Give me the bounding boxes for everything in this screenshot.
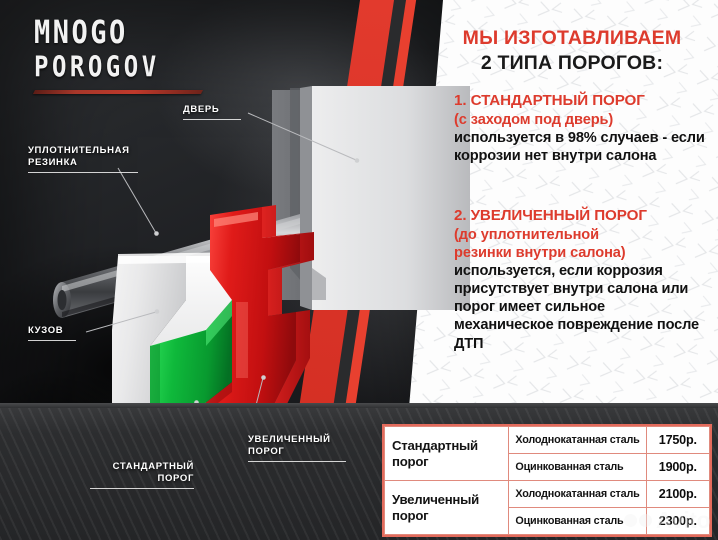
block2-body: используется, если коррозия присутствует… <box>454 262 706 353</box>
brand-logo: MNOGO POROGOV <box>34 17 214 94</box>
table-row: Стандартный порог Холоднокатанная сталь … <box>385 427 710 454</box>
header-line-1: МЫ ИЗГОТАВЛИВАЕМ <box>438 28 706 50</box>
price-row-value-3: 2300р. <box>646 508 709 535</box>
label-door-rule <box>183 119 241 120</box>
price-row-material-2: Холоднокатанная сталь <box>509 481 646 508</box>
price-row-material-1: Оцинкованная сталь <box>509 454 646 481</box>
label-seal-rule <box>28 172 138 173</box>
info-block-standard: 1. СТАНДАРТНЫЙ ПОРОГ (с заходом под двер… <box>454 92 706 165</box>
label-door: ДВЕРЬ <box>183 104 253 120</box>
label-standard-text-2: ПОРОГ <box>158 473 194 484</box>
block2-title: 2. УВЕЛИЧЕННЫЙ ПОРОГ <box>454 207 706 226</box>
block2-subtitle-line-2: резинки внутри салона) <box>454 244 706 262</box>
label-seal-text-2: РЕЗИНКА <box>28 157 78 168</box>
label-standard-rule <box>90 488 194 489</box>
label-extended-rule <box>248 461 346 462</box>
label-door-text: ДВЕРЬ <box>183 104 219 115</box>
label-rubber-seal: УПЛОТНИТЕЛЬНАЯ РЕЗИНКА <box>28 145 148 173</box>
bottom-band-top-edge <box>0 403 718 408</box>
block1-title: 1. СТАНДАРТНЫЙ ПОРОГ <box>454 92 706 111</box>
logo-line-1: MNOGO <box>34 17 214 49</box>
label-body-rule <box>28 340 76 341</box>
label-car-body: КУЗОВ <box>28 325 88 341</box>
price-table: Стандартный порог Холоднокатанная сталь … <box>384 426 710 535</box>
label-standard-sill: СТАНДАРТНЫЙ ПОРОГ <box>90 461 194 489</box>
label-extended-text-2: ПОРОГ <box>248 446 284 457</box>
label-extended-text-1: УВЕЛИЧЕННЫЙ <box>248 434 331 445</box>
price-row-material-0: Холоднокатанная сталь <box>509 427 646 454</box>
logo-line-2: POROGOV <box>34 53 214 81</box>
label-body-text: КУЗОВ <box>28 325 63 336</box>
logo-underline-bar <box>33 90 203 94</box>
price-row-name-standard: Стандартный порог <box>385 427 509 481</box>
price-table-container: Стандартный порог Холоднокатанная сталь … <box>382 424 712 537</box>
label-standard-text-1: СТАНДАРТНЫЙ <box>113 461 194 472</box>
panel-header: МЫ ИЗГОТАВЛИВАЕМ 2 ТИПА ПОРОГОВ: <box>438 28 706 75</box>
price-row-name-extended: Увеличенный порог <box>385 481 509 535</box>
price-row-value-2: 2100р. <box>646 481 709 508</box>
block1-subtitle: (с заходом под дверь) <box>454 111 706 129</box>
block1-body: используется в 98% случаев - если корроз… <box>454 129 706 165</box>
price-row-value-1: 1900р. <box>646 454 709 481</box>
label-extended-sill: УВЕЛИЧЕННЫЙ ПОРОГ <box>248 434 348 462</box>
info-block-extended: 2. УВЕЛИЧЕННЫЙ ПОРОГ (до уплотнительной … <box>454 207 706 353</box>
poster-root: MNOGO POROGOV ДВЕРЬ УПЛОТНИТЕЛЬНАЯ РЕЗИН… <box>0 0 718 540</box>
price-row-material-3: Оцинкованная сталь <box>509 508 646 535</box>
label-seal-text-1: УПЛОТНИТЕЛЬНАЯ <box>28 145 130 156</box>
price-row-value-0: 1750р. <box>646 427 709 454</box>
header-line-2: 2 ТИПА ПОРОГОВ: <box>438 53 706 75</box>
table-row: Увеличенный порог Холоднокатанная сталь … <box>385 481 710 508</box>
block2-subtitle-line-1: (до уплотнительной <box>454 226 706 244</box>
